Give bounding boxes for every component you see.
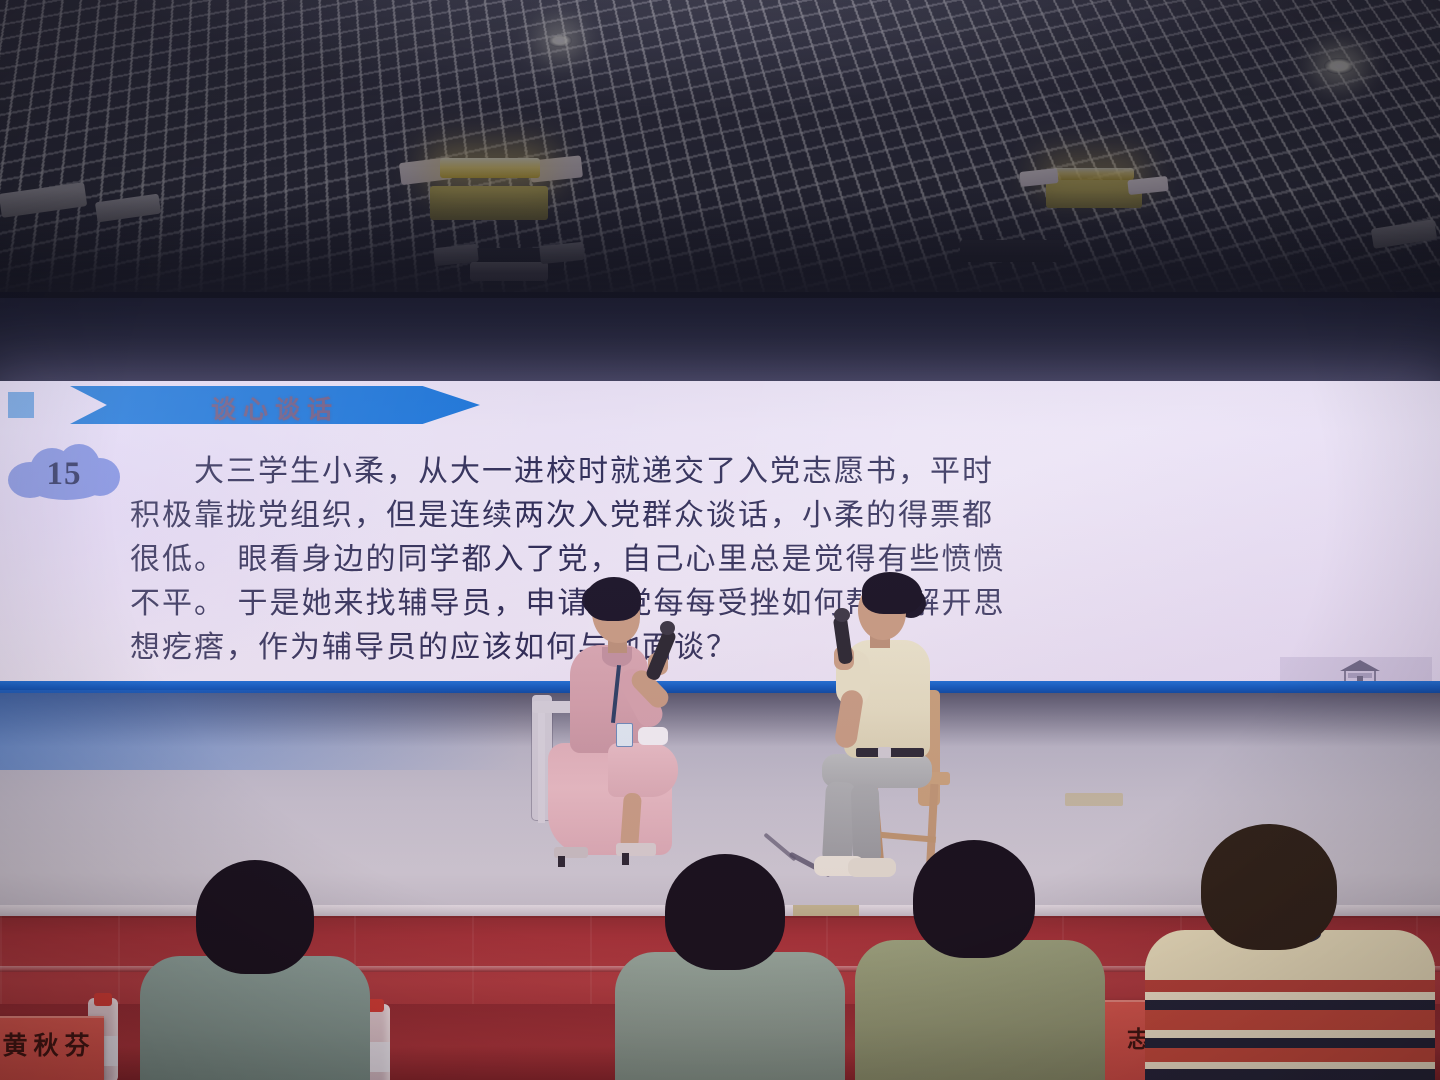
slide-line-1: 大三学生小柔，从大一进校时就递交了入党志愿书，平时 (130, 450, 1385, 494)
speaker-student-right (800, 572, 980, 872)
chair-leg-left-a (538, 713, 545, 823)
audience-2-shirt (615, 952, 845, 1080)
ceiling-grid (0, 0, 1440, 300)
banner-title-text: 谈心谈话 (70, 390, 480, 426)
audience-2-head (665, 854, 785, 970)
stage-tape-marker (1065, 793, 1123, 806)
audience-4-shirt (1145, 930, 1435, 1080)
audience-member-4 (1145, 820, 1435, 1080)
case-number-text: 15 (8, 456, 120, 493)
microphone-head-right (834, 608, 850, 622)
audience-member-2 (615, 855, 845, 1080)
slide-corner-square-marker (8, 392, 34, 418)
audience-4-head (1201, 824, 1337, 950)
name-card-left-text: 黄秋芬 (0, 1018, 104, 1074)
stage-blue-light-spill (0, 690, 520, 770)
student-hair (862, 572, 922, 614)
slide-line-2: 积极靠拢党组织，但是连续两次入党群众谈话，小柔的得票都 (130, 494, 1385, 538)
audience-3-head (913, 840, 1035, 958)
student-belt-buckle (878, 747, 891, 758)
slide-line-3: 很低。 眼看身边的同学都入了党，自己心里总是觉得有些愤愤 (130, 538, 1385, 582)
slide-line-4: 不平。 于是她来找辅导员，申请入党每每受挫如何帮他解开思 (130, 582, 1385, 626)
speaker-counselor-left (530, 575, 720, 875)
ceiling-lower-shadow (0, 190, 1440, 300)
name-card-left: 黄秋芬 (0, 1016, 104, 1080)
slide-title-banner: 谈心谈话 (70, 386, 480, 424)
audience-4-shirt-stripes (1145, 962, 1435, 1080)
staff-badge (616, 723, 633, 747)
microphone-head-left (660, 621, 675, 635)
tissue-pack (638, 727, 668, 745)
audience-3-shirt (855, 940, 1105, 1080)
case-number-cloud: 15 (8, 444, 120, 502)
auditorium-scene: 谈心谈话 15 大三学生小柔，从大一进校时就递交了入党志愿书，平时 积极靠拢党组… (0, 0, 1440, 1080)
audience-member-1 (140, 860, 370, 1080)
slide-body-text: 大三学生小柔，从大一进校时就递交了入党志愿书，平时 积极靠拢党组织，但是连续两次… (130, 450, 1385, 670)
audience-member-3 (855, 840, 1105, 1080)
counselor-heel-back (558, 856, 565, 867)
audience-1-shirt (140, 956, 370, 1080)
counselor-lap (608, 743, 678, 797)
counselor-hair (585, 577, 641, 621)
water-bottle-cap-left (94, 993, 112, 1006)
slide-line-5: 想疙瘩，作为辅导员的应该如何与他面谈？ (130, 626, 1385, 670)
audience-1-head (196, 860, 314, 974)
wall-ceiling-seam (0, 292, 1440, 298)
